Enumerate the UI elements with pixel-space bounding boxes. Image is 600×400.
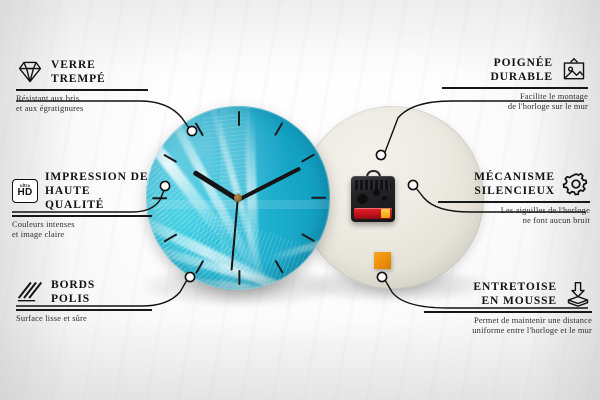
callout-verre-trempe: VERRE TREMPÉ Résistant aux bris et aux é…: [16, 58, 148, 115]
callout-rule: [424, 311, 592, 313]
callout-rule: [438, 201, 590, 203]
diamond-icon: [16, 59, 44, 85]
callout-rule: [442, 87, 588, 89]
callout-description: Résistant aux bris et aux égratignures: [16, 94, 148, 115]
mechanism-screw: [373, 189, 380, 196]
callout-mecanisme-silencieux: MÉCANISME SILENCIEUX Les aiguilles de l'…: [438, 170, 590, 227]
clock-center-cap: [234, 194, 242, 202]
callout-rule: [12, 215, 152, 217]
mechanism-ribbing: [355, 180, 391, 190]
clock-tick: [152, 197, 167, 199]
callout-title: MÉCANISME SILENCIEUX: [474, 170, 555, 198]
callout-impression-haute-qualite: ultra HD IMPRESSION DE HAUTE QUALITÉ Cou…: [12, 170, 152, 241]
callout-bords-polis: BORDS POLIS Surface lisse et sûre: [16, 278, 152, 324]
callout-description: Surface lisse et sûre: [16, 314, 152, 325]
callout-title: ENTRETOISE EN MOUSSE: [473, 280, 557, 308]
callout-description: Couleurs intenses et image claire: [12, 220, 152, 241]
ultra-hd-icon: ultra HD: [12, 179, 38, 203]
callout-title: POIGNÉE DURABLE: [490, 56, 553, 84]
wall-hanger-icon: [560, 57, 588, 83]
foam-spacer-icon: [564, 281, 592, 307]
callout-description: Facilite le montage de l'horloge sur le …: [442, 92, 588, 113]
polished-edges-icon: [16, 279, 44, 305]
gear-icon: [562, 171, 590, 197]
battery-label: [381, 209, 390, 218]
mechanism-dial: [357, 193, 368, 204]
clock-tick: [238, 270, 240, 285]
clock-mechanism: [351, 176, 395, 222]
callout-title: VERRE TREMPÉ: [51, 58, 106, 86]
foam-spacer: [374, 252, 391, 269]
callout-rule: [16, 309, 152, 311]
callout-description: Permet de maintenir une distance uniform…: [424, 316, 592, 337]
callout-title: BORDS POLIS: [51, 278, 95, 306]
mechanism-screw-small: [382, 196, 387, 201]
callout-poignee-durable: POIGNÉE DURABLE Facilite le montage de l…: [442, 56, 588, 113]
battery: [354, 208, 392, 219]
callout-entretoise-en-mousse: ENTRETOISE EN MOUSSE Permet de maintenir…: [424, 280, 592, 337]
callout-description: Les aiguilles de l'horloge ne font aucun…: [438, 206, 590, 227]
clock-face: [146, 106, 330, 290]
callout-rule: [16, 89, 148, 91]
callout-title: IMPRESSION DE HAUTE QUALITÉ: [45, 170, 152, 212]
